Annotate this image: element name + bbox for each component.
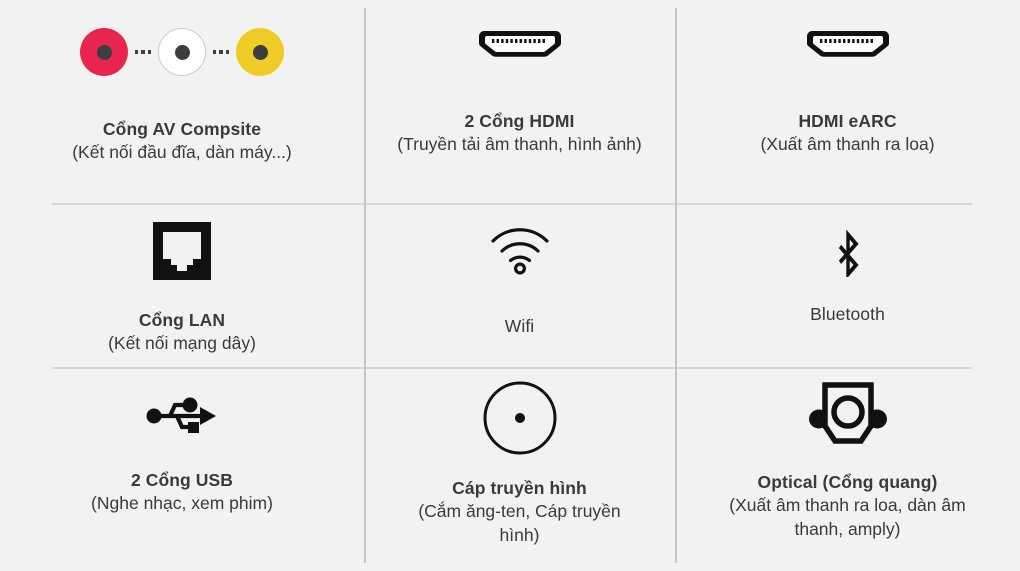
grid-divider-vertical-2 [675, 8, 677, 563]
cell-title-wifi: Wifi [505, 315, 535, 338]
coaxial-icon-wrap [481, 379, 559, 457]
av-composite-icon [80, 28, 284, 76]
av-plug-white-pin [175, 45, 190, 60]
hdmi-earc-icon-wrap [804, 28, 892, 62]
cell-subtitle-av-composite: (Kết nối đầu đĩa, dàn máy...) [72, 141, 292, 165]
av-plug-yellow-pin [253, 45, 268, 60]
optical-icon-wrap [806, 379, 890, 453]
hdmi-icon-wrap [476, 28, 564, 62]
cell-title-bluetooth: Bluetooth [810, 303, 885, 326]
port-feature-grid: Cổng AV Compsite (Kết nối đầu đĩa, dàn m… [0, 0, 1020, 571]
av-dots-left [128, 50, 158, 54]
cell-title-hdmi-earc: HDMI eARC [798, 110, 896, 133]
cell-title-lan: Cổng LAN [139, 309, 225, 332]
av-plug-yellow [236, 28, 284, 76]
cell-optical: Optical (Cổng quang) (Xuất âm thanh ra l… [675, 367, 1020, 571]
cell-subtitle-hdmi-earc: (Xuất âm thanh ra loa) [760, 133, 934, 157]
bluetooth-icon [828, 219, 868, 277]
cell-subtitle-optical: (Xuất âm thanh ra loa, dàn âm thanh, amp… [723, 494, 973, 541]
cell-subtitle-hdmi: (Truyền tải âm thanh, hình ảnh) [397, 133, 642, 157]
lan-port-icon [150, 219, 214, 283]
cell-wifi: Wifi [364, 203, 675, 367]
cell-title-optical: Optical (Cổng quang) [758, 471, 938, 494]
cell-title-usb: 2 Cổng USB [131, 469, 233, 492]
wifi-icon [489, 225, 551, 275]
lan-icon-wrap [150, 219, 214, 283]
cell-usb: 2 Cổng USB (Nghe nhạc, xem phim) [0, 367, 364, 571]
wifi-icon-wrap [489, 219, 551, 275]
usb-icon [144, 393, 220, 439]
av-plug-white [158, 28, 206, 76]
cell-subtitle-lan: (Kết nối mạng dây) [108, 332, 256, 356]
cell-subtitle-usb: (Nghe nhạc, xem phim) [91, 492, 273, 516]
hdmi-port-icon [804, 28, 892, 62]
cell-title-av-composite: Cổng AV Compsite [103, 118, 261, 141]
cell-hdmi-earc: HDMI eARC (Xuất âm thanh ra loa) [675, 0, 1020, 203]
av-composite-icon-wrap [80, 28, 284, 76]
coaxial-cable-icon [481, 379, 559, 457]
av-dots-right [206, 50, 236, 54]
cell-title-coaxial: Cáp truyền hình [452, 477, 587, 500]
cell-av-composite: Cổng AV Compsite (Kết nối đầu đĩa, dàn m… [0, 0, 364, 203]
cell-hdmi: 2 Cổng HDMI (Truyền tải âm thanh, hình ả… [364, 0, 675, 203]
cell-lan: Cổng LAN (Kết nối mạng dây) [0, 203, 364, 367]
av-plug-red-pin [97, 45, 112, 60]
cell-bluetooth: Bluetooth [675, 203, 1020, 367]
bluetooth-icon-wrap [828, 219, 868, 277]
grid-divider-vertical-1 [364, 8, 366, 563]
hdmi-port-icon [476, 28, 564, 62]
cell-subtitle-coaxial: (Cắm ăng-ten, Cáp truyền hình) [412, 500, 627, 547]
optical-port-icon [806, 379, 890, 453]
av-plug-red [80, 28, 128, 76]
grid-divider-horizontal-2 [52, 367, 972, 369]
cell-title-hdmi: 2 Cổng HDMI [465, 110, 575, 133]
usb-icon-wrap [144, 379, 220, 439]
cell-coaxial: Cáp truyền hình (Cắm ăng-ten, Cáp truyền… [364, 367, 675, 571]
grid-divider-horizontal-1 [52, 203, 972, 205]
